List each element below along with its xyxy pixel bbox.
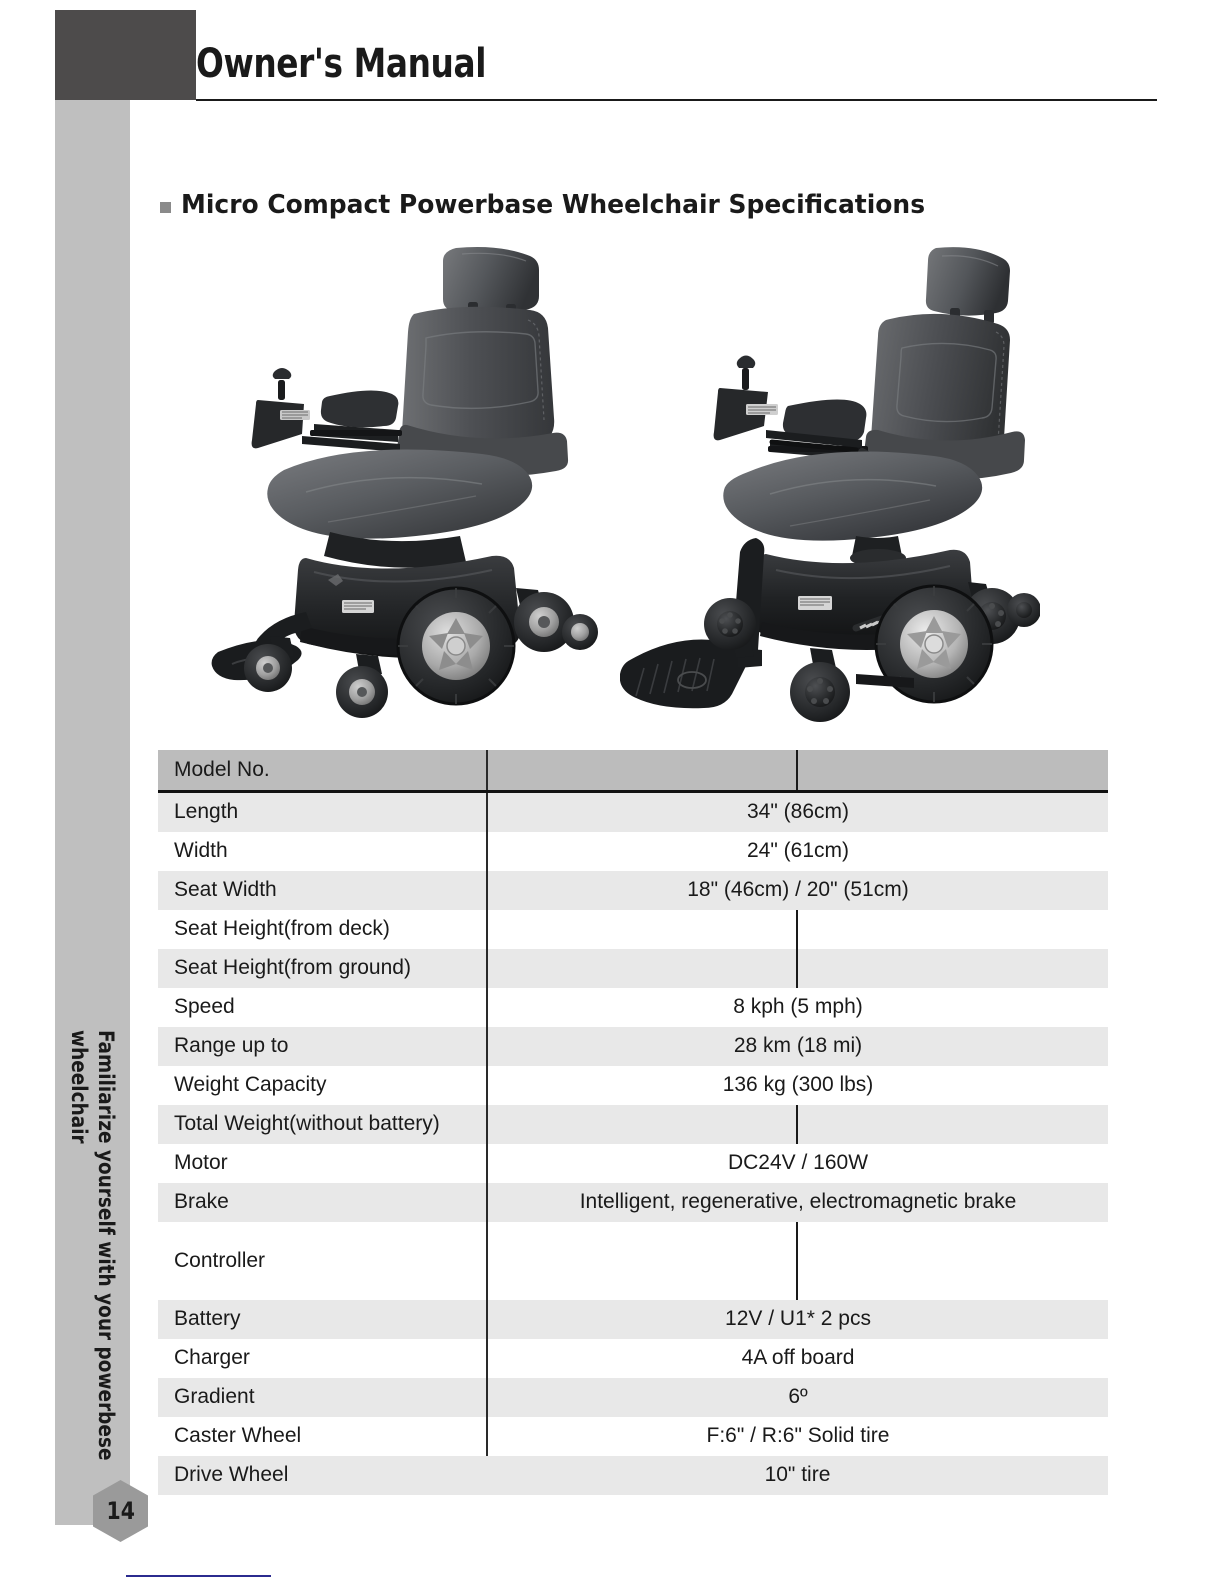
spec-value: 12V / U1* 2 pcs (487, 1300, 1108, 1339)
spec-label: Weight Capacity (158, 1066, 487, 1105)
table-row: Drive Wheel10" tire (158, 1456, 1108, 1495)
spec-label: Seat Height(from deck) (158, 910, 487, 949)
table-row: Length34" (86cm) (158, 792, 1108, 833)
table-row: Weight Capacity136 kg (300 lbs) (158, 1066, 1108, 1105)
spec-value-left (487, 1222, 797, 1300)
spec-value-left (487, 910, 797, 949)
table-row: Seat Height(from deck) (158, 910, 1108, 949)
table-row: Controller (158, 1222, 1108, 1300)
specifications-table: Model No.Length34" (86cm)Width24" (61cm)… (158, 750, 1108, 1495)
spec-value: 28 km (18 mi) (487, 1027, 1108, 1066)
spec-value-left (487, 949, 797, 988)
table-row: Total Weight(without battery) (158, 1105, 1108, 1144)
table-row: MotorDC24V / 160W (158, 1144, 1108, 1183)
section-heading-label: Micro Compact Powerbase Wheelchair Speci… (181, 190, 925, 220)
table-row: Caster WheelF:6" / R:6" Solid tire (158, 1417, 1108, 1456)
spec-value-left (487, 1105, 797, 1144)
spec-label: Controller (158, 1222, 487, 1300)
spec-label: Motor (158, 1144, 487, 1183)
spec-label: Speed (158, 988, 487, 1027)
spec-label: Battery (158, 1300, 487, 1339)
spec-value-right (797, 949, 1108, 988)
spec-value-right (797, 910, 1108, 949)
wheelchair-side-three-quarter-view (620, 240, 1040, 740)
spec-value-right (797, 750, 1108, 792)
table-row: Speed8 kph (5 mph) (158, 988, 1108, 1027)
spec-value: DC24V / 160W (487, 1144, 1108, 1183)
product-photos (160, 240, 1060, 740)
spec-label: Drive Wheel (158, 1456, 487, 1495)
spec-label: Seat Width (158, 871, 487, 910)
spec-label: Caster Wheel (158, 1417, 487, 1456)
table-row: Range up to28 km (18 mi) (158, 1027, 1108, 1066)
table-row: Charger4A off board (158, 1339, 1108, 1378)
spec-label: Total Weight(without battery) (158, 1105, 487, 1144)
spec-label: Charger (158, 1339, 487, 1378)
table-row: BrakeIntelligent, regenerative, electrom… (158, 1183, 1108, 1222)
spec-value-right (797, 1222, 1108, 1300)
table-header-row: Model No. (158, 750, 1108, 792)
spec-label: Width (158, 832, 487, 871)
spec-label: Brake (158, 1183, 487, 1222)
table-row: Battery12V / U1* 2 pcs (158, 1300, 1108, 1339)
spec-label: Gradient (158, 1378, 487, 1417)
spec-value: 34" (86cm) (487, 792, 1108, 833)
spec-value: 136 kg (300 lbs) (487, 1066, 1108, 1105)
sidebar-tab (55, 100, 130, 1525)
spec-value: Intelligent, regenerative, electromagnet… (487, 1183, 1108, 1222)
spec-value: 18" (46cm) / 20" (51cm) (487, 871, 1108, 910)
footer-accent-rule (126, 1575, 271, 1577)
spec-label: Seat Height(from ground) (158, 949, 487, 988)
spec-value: 4A off board (487, 1339, 1108, 1378)
spec-label: Length (158, 792, 487, 833)
spec-value-left (487, 750, 797, 792)
spec-value-right (797, 1105, 1108, 1144)
header-accent-block (55, 10, 196, 100)
header-divider (196, 99, 1157, 101)
specifications-table-body: Model No.Length34" (86cm)Width24" (61cm)… (158, 750, 1108, 1495)
spec-value: 10" tire (487, 1456, 1108, 1495)
page-title: Owner's Manual (196, 44, 486, 84)
spec-value: F:6" / R:6" Solid tire (487, 1417, 1108, 1456)
wheelchair-front-three-quarter-view (210, 240, 610, 740)
section-heading: Micro Compact Powerbase Wheelchair Speci… (160, 190, 956, 220)
table-row: Width24" (61cm) (158, 832, 1108, 871)
spec-label: Model No. (158, 750, 487, 792)
spec-value: 8 kph (5 mph) (487, 988, 1108, 1027)
table-row: Gradient6º (158, 1378, 1108, 1417)
table-row: Seat Height(from ground) (158, 949, 1108, 988)
spec-value: 6º (487, 1378, 1108, 1417)
table-row: Seat Width18" (46cm) / 20" (51cm) (158, 871, 1108, 910)
spec-value: 24" (61cm) (487, 832, 1108, 871)
page-number: 14 (106, 1497, 134, 1525)
square-bullet-icon (160, 202, 171, 213)
manual-page: Owner's Manual Familiarize yourself with… (0, 0, 1224, 1584)
spec-label: Range up to (158, 1027, 487, 1066)
